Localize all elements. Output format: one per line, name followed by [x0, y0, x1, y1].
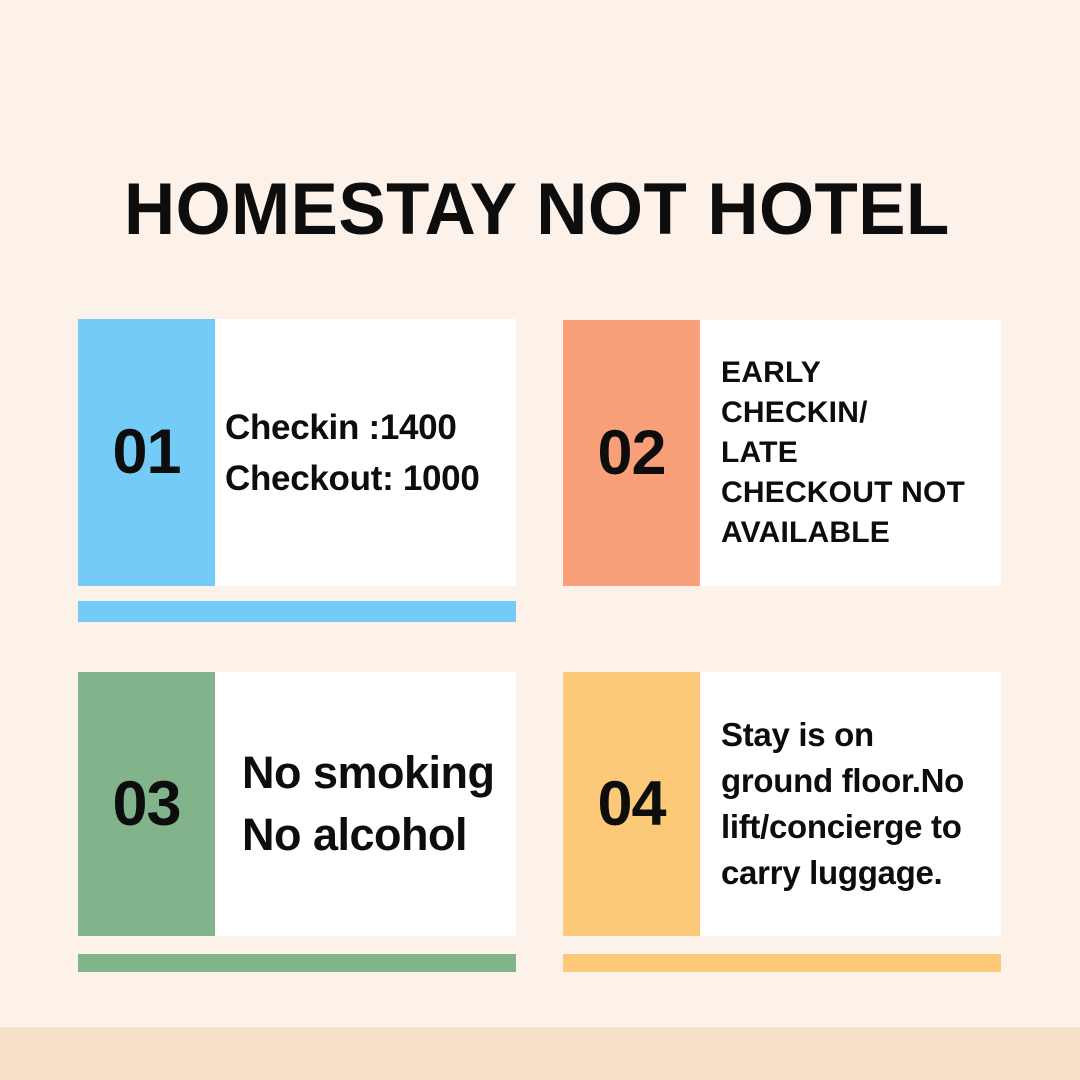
card-body-04: Stay is on ground floor.No lift/concierg…: [700, 672, 1001, 936]
info-card-02: 02 EARLY CHECKIN/ LATE CHECKOUT NOT AVAI…: [563, 320, 1001, 586]
card-text-line: EARLY: [721, 353, 1001, 393]
card-number-block-02: 02: [563, 320, 700, 586]
card-number-block-03: 03: [78, 672, 215, 936]
card-text-line: ground floor.No: [721, 758, 1001, 804]
card-number-04: 04: [597, 773, 665, 836]
card-text-line: CHECKIN/: [721, 393, 1001, 433]
card-text-line: carry luggage.: [721, 850, 1001, 896]
card-text-line: CHECKOUT NOT: [721, 473, 1001, 513]
card-text-line: AVAILABLE: [721, 513, 1001, 553]
accent-bar-01: [78, 601, 516, 622]
card-text-line: Checkin :1400: [225, 402, 516, 453]
card-number-block-01: 01: [78, 319, 215, 586]
card-text-line: Checkout: 1000: [225, 453, 516, 504]
poster-canvas: HOMESTAY NOT HOTEL 01 Checkin :1400 Chec…: [0, 0, 1080, 1080]
card-text-line: No smoking: [242, 742, 516, 804]
info-card-03: 03 No smoking No alcohol: [78, 672, 516, 936]
bottom-band: [0, 1027, 1080, 1080]
card-body-01: Checkin :1400 Checkout: 1000: [215, 319, 516, 586]
card-text-line: LATE: [721, 433, 1001, 473]
card-number-03: 03: [112, 773, 180, 836]
accent-bar-04: [563, 954, 1001, 972]
card-text-line: No alcohol: [242, 804, 516, 866]
card-number-02: 02: [597, 422, 665, 485]
card-body-02: EARLY CHECKIN/ LATE CHECKOUT NOT AVAILAB…: [700, 320, 1001, 586]
card-body-03: No smoking No alcohol: [215, 672, 516, 936]
card-number-01: 01: [112, 421, 180, 484]
accent-bar-03: [78, 954, 516, 972]
page-title: HOMESTAY NOT HOTEL: [124, 168, 939, 252]
card-text-line: lift/concierge to: [721, 804, 1001, 850]
info-card-04: 04 Stay is on ground floor.No lift/conci…: [563, 672, 1001, 936]
card-text-line: Stay is on: [721, 712, 1001, 758]
info-card-01: 01 Checkin :1400 Checkout: 1000: [78, 319, 516, 586]
card-number-block-04: 04: [563, 672, 700, 936]
